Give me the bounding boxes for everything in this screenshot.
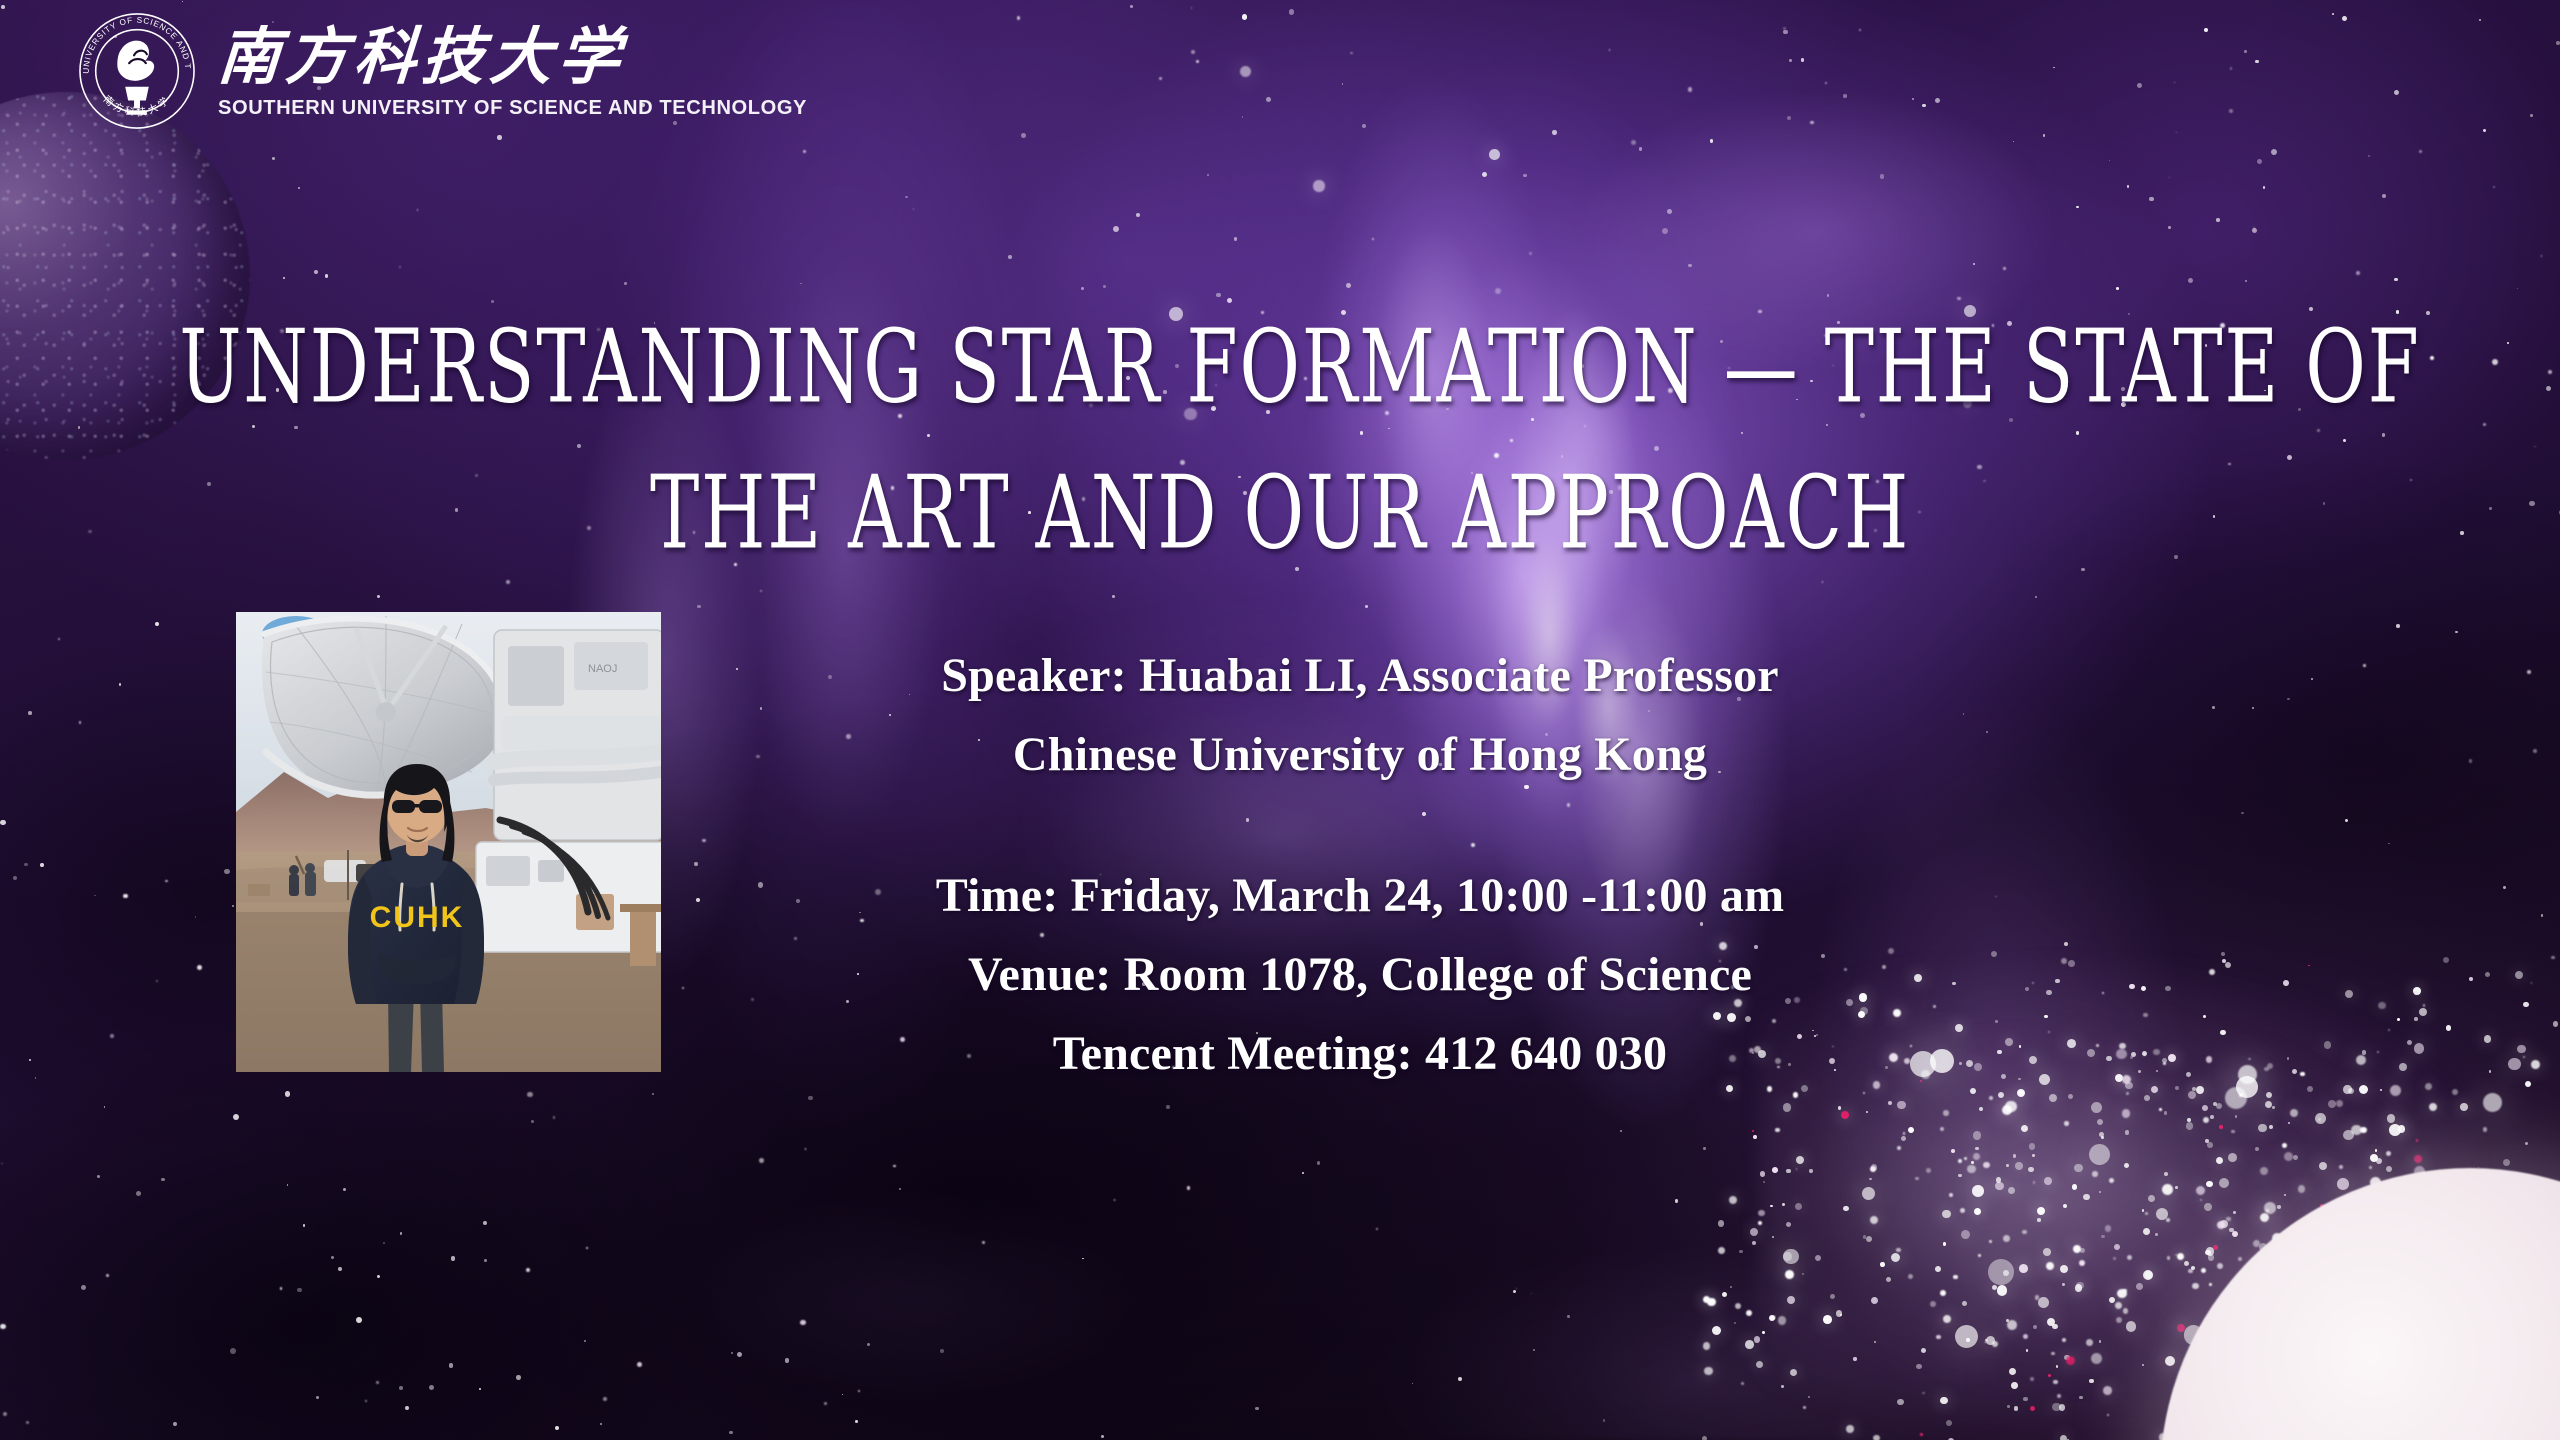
star bbox=[287, 1184, 289, 1186]
star bbox=[2002, 1105, 2012, 1115]
star bbox=[1983, 1162, 1990, 1169]
star bbox=[2123, 1289, 2126, 1292]
star bbox=[2220, 1220, 2228, 1228]
star bbox=[2290, 1109, 2298, 1117]
star bbox=[2080, 1248, 2085, 1253]
star bbox=[1552, 130, 1557, 135]
star bbox=[2116, 1049, 2127, 1060]
star bbox=[2239, 1093, 2243, 1097]
star bbox=[2155, 1233, 2158, 1236]
star bbox=[2122, 1075, 2132, 1085]
star bbox=[1966, 1060, 1973, 1067]
star bbox=[2143, 1013, 2148, 1018]
star bbox=[2044, 1015, 2048, 1019]
star bbox=[2057, 1394, 2061, 1398]
star bbox=[2483, 1127, 2488, 1132]
star bbox=[800, 283, 801, 284]
star bbox=[230, 1348, 236, 1354]
star bbox=[1926, 1168, 1931, 1173]
star bbox=[2485, 972, 2490, 977]
star bbox=[2014, 1406, 2019, 1411]
star bbox=[2283, 980, 2289, 986]
star bbox=[2288, 1122, 2290, 1124]
star bbox=[2075, 1284, 2083, 1292]
star bbox=[2089, 1379, 2094, 1384]
star bbox=[1196, 60, 1200, 64]
star bbox=[1986, 1336, 1995, 1345]
star bbox=[2143, 1228, 2150, 1235]
star bbox=[1639, 147, 1642, 150]
star bbox=[2343, 1085, 2351, 1093]
planet-bottom-right bbox=[2160, 1168, 2560, 1440]
star bbox=[1922, 104, 1926, 108]
star bbox=[842, 1394, 844, 1396]
star bbox=[2089, 1144, 2110, 1165]
star bbox=[2311, 678, 2313, 680]
star bbox=[1973, 1153, 1980, 1160]
star bbox=[2541, 914, 2544, 917]
star bbox=[1533, 1349, 1535, 1351]
star bbox=[1362, 124, 1366, 128]
star bbox=[2007, 1405, 2010, 1408]
star bbox=[1891, 1253, 1900, 1262]
star bbox=[1786, 1222, 1791, 1227]
star bbox=[2492, 359, 2498, 365]
star bbox=[399, 1386, 403, 1390]
star bbox=[1317, 1161, 1321, 1165]
star bbox=[1958, 1159, 1962, 1163]
star bbox=[1823, 1315, 1832, 1324]
star bbox=[1746, 1310, 1752, 1316]
star bbox=[2413, 987, 2421, 995]
star bbox=[2515, 971, 2523, 979]
star bbox=[1529, 252, 1532, 255]
star bbox=[1783, 27, 1786, 30]
star bbox=[2265, 1101, 2272, 1108]
star bbox=[1940, 1127, 1944, 1131]
star bbox=[81, 1285, 87, 1291]
star bbox=[0, 820, 6, 826]
star bbox=[331, 1256, 334, 1259]
star bbox=[1758, 1210, 1765, 1217]
star bbox=[1722, 1292, 1727, 1297]
star bbox=[694, 862, 698, 866]
logo-chinese-name: 南方科技大学 bbox=[216, 26, 821, 88]
star bbox=[2099, 1340, 2102, 1343]
star bbox=[2425, 1083, 2432, 1090]
affiliation-line: Chinese University of Hong Kong bbox=[880, 715, 1840, 794]
star bbox=[2284, 1152, 2293, 1161]
star bbox=[338, 1267, 342, 1271]
star bbox=[1302, 1172, 1304, 1174]
star bbox=[2202, 1105, 2208, 1111]
star bbox=[899, 1188, 902, 1191]
star bbox=[1191, 7, 1193, 9]
star bbox=[2533, 749, 2537, 753]
star bbox=[195, 916, 197, 918]
star bbox=[2546, 386, 2551, 391]
star bbox=[2228, 1153, 2237, 1162]
svg-text:NAOJ: NAOJ bbox=[588, 663, 617, 675]
star bbox=[2300, 1072, 2305, 1077]
star bbox=[1688, 264, 1692, 268]
star bbox=[1978, 1254, 1981, 1257]
star bbox=[2096, 1044, 2099, 1047]
star bbox=[736, 668, 738, 670]
star bbox=[1778, 1316, 1787, 1325]
star bbox=[1103, 285, 1106, 288]
star bbox=[1801, 58, 1805, 62]
star bbox=[913, 208, 915, 210]
star bbox=[2060, 1435, 2067, 1440]
star bbox=[1871, 1297, 1878, 1304]
star bbox=[1082, 1258, 1084, 1260]
star bbox=[2238, 1257, 2243, 1262]
star bbox=[2018, 1078, 2021, 1081]
star bbox=[2556, 41, 2560, 46]
star bbox=[1266, 97, 1271, 102]
star bbox=[1874, 1341, 1876, 1343]
star bbox=[1841, 1111, 1849, 1119]
star bbox=[2109, 1178, 2114, 1183]
star bbox=[2508, 1058, 2521, 1071]
star bbox=[2059, 1404, 2066, 1411]
star bbox=[1412, 1383, 1414, 1385]
star bbox=[1753, 1135, 1757, 1139]
star bbox=[758, 882, 764, 888]
star bbox=[2167, 1256, 2171, 1260]
star bbox=[1763, 1181, 1765, 1183]
star bbox=[2336, 1100, 2343, 1107]
star bbox=[1897, 1146, 1901, 1150]
star bbox=[2394, 90, 2399, 95]
star bbox=[2007, 1320, 2017, 1330]
title-line-1: UNDERSTANDING STAR FORMATION — THE STATE… bbox=[179, 294, 2381, 440]
star bbox=[2129, 984, 2135, 990]
star bbox=[1741, 1382, 1744, 1385]
star bbox=[224, 869, 230, 875]
star bbox=[2053, 1380, 2058, 1385]
star bbox=[1838, 1106, 1842, 1110]
star bbox=[2142, 1051, 2148, 1057]
star bbox=[2064, 942, 2068, 946]
star bbox=[1974, 1063, 1982, 1071]
star bbox=[2205, 1139, 2209, 1143]
star bbox=[1859, 993, 1868, 1002]
star bbox=[2375, 1149, 2378, 1152]
star bbox=[2092, 1171, 2098, 1177]
star bbox=[2419, 150, 2422, 153]
star bbox=[1871, 1164, 1878, 1171]
star bbox=[1313, 180, 1325, 192]
star bbox=[2055, 979, 2060, 984]
star bbox=[2049, 1094, 2057, 1102]
star bbox=[1730, 1286, 1732, 1288]
star bbox=[2047, 1318, 2056, 1327]
star bbox=[1130, 5, 1133, 8]
star bbox=[2175, 1186, 2178, 1189]
star bbox=[2175, 1254, 2178, 1257]
star bbox=[400, 1232, 402, 1234]
star bbox=[697, 605, 701, 609]
star bbox=[2370, 1154, 2378, 1162]
star bbox=[2130, 1056, 2133, 1059]
star bbox=[182, 1, 184, 3]
star bbox=[760, 707, 763, 710]
star bbox=[2229, 1228, 2233, 1232]
star bbox=[2149, 197, 2154, 202]
star bbox=[449, 1363, 454, 1368]
star bbox=[314, 270, 318, 274]
star bbox=[1830, 1294, 1835, 1299]
star bbox=[1255, 1407, 1258, 1410]
star bbox=[377, 1275, 380, 1278]
star bbox=[2064, 1355, 2070, 1361]
star bbox=[1707, 1298, 1716, 1307]
star bbox=[1114, 1199, 1116, 1201]
star bbox=[2164, 1111, 2168, 1115]
star bbox=[2191, 1266, 2195, 1270]
star bbox=[2219, 1178, 2229, 1188]
star bbox=[1704, 1367, 1712, 1375]
star bbox=[1787, 116, 1791, 120]
star bbox=[555, 1426, 559, 1430]
star bbox=[1964, 1157, 1967, 1160]
star bbox=[1783, 1252, 1792, 1261]
star bbox=[1972, 1185, 1984, 1197]
star bbox=[2029, 1143, 2036, 1150]
star bbox=[1793, 1092, 1798, 1097]
star bbox=[1961, 1230, 1970, 1239]
star bbox=[2068, 960, 2075, 967]
star bbox=[1242, 14, 1248, 20]
star bbox=[2206, 1181, 2213, 1188]
star bbox=[1888, 948, 1894, 954]
star bbox=[2192, 1087, 2196, 1091]
star bbox=[2414, 991, 2418, 995]
star bbox=[2337, 1178, 2349, 1190]
star bbox=[2168, 1054, 2176, 1062]
star bbox=[1942, 1210, 1951, 1219]
star bbox=[2032, 982, 2034, 984]
star bbox=[2039, 1074, 2050, 1085]
star bbox=[2443, 957, 2449, 963]
star bbox=[2264, 1067, 2269, 1072]
star bbox=[2099, 1132, 2104, 1137]
star bbox=[2106, 1056, 2111, 1061]
star bbox=[2115, 1302, 2122, 1309]
star bbox=[429, 1385, 434, 1390]
star bbox=[405, 1406, 409, 1410]
star bbox=[2062, 1338, 2066, 1342]
star bbox=[1846, 1425, 1854, 1433]
star bbox=[2531, 982, 2533, 984]
star bbox=[2212, 706, 2216, 710]
star bbox=[2390, 1085, 2401, 1096]
star bbox=[2204, 1203, 2212, 1211]
star bbox=[1974, 1208, 1981, 1215]
star bbox=[2483, 129, 2487, 133]
venue-line: Venue: Room 1078, College of Science bbox=[880, 935, 1840, 1014]
star bbox=[1922, 1392, 1924, 1394]
star bbox=[2141, 986, 2146, 991]
star bbox=[2037, 1207, 2045, 1215]
star bbox=[2006, 1319, 2009, 1322]
star bbox=[516, 1375, 521, 1380]
star bbox=[2292, 1069, 2297, 1074]
star bbox=[2156, 1070, 2158, 1072]
star bbox=[1910, 1045, 1912, 1047]
star bbox=[1750, 1228, 1758, 1236]
star bbox=[1772, 1167, 1778, 1173]
star bbox=[1803, 1406, 1807, 1410]
star bbox=[2455, 631, 2458, 634]
star bbox=[1853, 1357, 1856, 1360]
star bbox=[1775, 1128, 1780, 1133]
star bbox=[2388, 843, 2390, 845]
star bbox=[2530, 114, 2533, 117]
star bbox=[531, 1120, 534, 1123]
star bbox=[303, 1224, 305, 1226]
star bbox=[1113, 226, 1119, 232]
star bbox=[796, 899, 800, 903]
star bbox=[2382, 433, 2386, 437]
star bbox=[2430, 356, 2435, 361]
star bbox=[1603, 1419, 1605, 1421]
star bbox=[2398, 1125, 2406, 1133]
star bbox=[2056, 1365, 2059, 1368]
star bbox=[1365, 605, 1368, 608]
star bbox=[1787, 1296, 1795, 1304]
star bbox=[2035, 1295, 2040, 1300]
star bbox=[298, 187, 300, 189]
speaker-line: Speaker: Huabai LI, Associate Professor bbox=[880, 636, 1840, 715]
star bbox=[1789, 59, 1792, 62]
star bbox=[1836, 1310, 1843, 1317]
star bbox=[1873, 1081, 1880, 1088]
star bbox=[1342, 83, 1344, 85]
star bbox=[1242, 116, 1244, 118]
star bbox=[2006, 1164, 2009, 1167]
title-line-2: THE ART AND OUR APPROACH bbox=[179, 440, 2381, 586]
star bbox=[2126, 1321, 2137, 1332]
star bbox=[1933, 1005, 1936, 1008]
star bbox=[1846, 999, 1853, 1006]
star bbox=[2483, 423, 2487, 427]
star bbox=[2192, 1283, 2199, 1290]
star bbox=[2109, 160, 2111, 162]
star bbox=[1702, 1436, 1708, 1440]
star bbox=[2005, 1101, 2016, 1112]
star bbox=[1930, 1049, 1954, 1073]
star bbox=[2114, 1244, 2120, 1250]
star bbox=[1844, 968, 1847, 971]
star bbox=[2269, 1125, 2273, 1129]
star bbox=[1870, 1166, 1876, 1172]
star bbox=[2164, 1172, 2168, 1176]
star bbox=[1971, 1161, 1974, 1164]
star bbox=[2144, 1095, 2150, 1101]
star bbox=[2328, 1100, 2337, 1109]
star bbox=[2052, 1324, 2058, 1330]
star bbox=[343, 1188, 347, 1192]
star bbox=[1916, 1364, 1921, 1369]
star bbox=[2163, 1062, 2166, 1065]
star bbox=[1758, 1221, 1762, 1225]
star bbox=[2324, 1041, 2332, 1049]
star bbox=[2342, 16, 2347, 21]
star bbox=[2229, 109, 2233, 113]
star bbox=[696, 898, 701, 903]
star bbox=[1880, 1262, 1885, 1267]
star bbox=[97, 1175, 101, 1179]
star bbox=[2541, 255, 2543, 257]
star bbox=[2217, 1221, 2225, 1229]
star bbox=[805, 1148, 807, 1150]
star bbox=[2138, 1070, 2141, 1073]
star bbox=[2245, 280, 2247, 282]
star bbox=[285, 1091, 291, 1097]
star bbox=[2534, 446, 2536, 448]
star bbox=[1166, 1105, 1170, 1109]
star bbox=[1863, 1235, 1867, 1239]
star bbox=[1523, 174, 1527, 178]
star bbox=[2074, 1164, 2082, 1172]
star bbox=[1136, 213, 1140, 217]
star bbox=[1992, 1341, 1999, 1348]
university-logo: SOUTHERN UNIVERSITY OF SCIENCE AND TECHN… bbox=[78, 12, 819, 130]
star bbox=[2043, 134, 2046, 137]
star bbox=[2175, 1086, 2179, 1090]
poster-title: UNDERSTANDING STAR FORMATION — THE STATE… bbox=[179, 294, 2381, 587]
star bbox=[1920, 1080, 1922, 1082]
star bbox=[2460, 1103, 2468, 1111]
star bbox=[2117, 1289, 2127, 1299]
star bbox=[2343, 1130, 2354, 1141]
star bbox=[2220, 1030, 2226, 1036]
star bbox=[1996, 1177, 2001, 1182]
star bbox=[2052, 1403, 2060, 1411]
star bbox=[2318, 1118, 2321, 1121]
star bbox=[1081, 287, 1084, 290]
logo-english-name: SOUTHERN UNIVERSITY OF SCIENCE AND TECHN… bbox=[218, 96, 807, 120]
star bbox=[1662, 228, 1668, 234]
star bbox=[2369, 1166, 2372, 1169]
star bbox=[1930, 1301, 1936, 1307]
star bbox=[1752, 1241, 1757, 1246]
star bbox=[1946, 1420, 1952, 1426]
star bbox=[2232, 1231, 2238, 1237]
star bbox=[35, 1077, 37, 1079]
star bbox=[586, 1247, 588, 1249]
star bbox=[2165, 1356, 2175, 1366]
star bbox=[905, 196, 908, 199]
star bbox=[2186, 1122, 2194, 1130]
star bbox=[1783, 1103, 1792, 1112]
star bbox=[2066, 1356, 2075, 1365]
star bbox=[2208, 1254, 2215, 1261]
star bbox=[1989, 1240, 1992, 1243]
star bbox=[1915, 1177, 1919, 1181]
star bbox=[759, 1158, 764, 1163]
star bbox=[1785, 1270, 1794, 1279]
star bbox=[1951, 1149, 1955, 1153]
star bbox=[1739, 1250, 1743, 1254]
star bbox=[1008, 255, 1012, 259]
star bbox=[1866, 1236, 1873, 1243]
star bbox=[2143, 1270, 2153, 1280]
star bbox=[2248, 1058, 2251, 1061]
